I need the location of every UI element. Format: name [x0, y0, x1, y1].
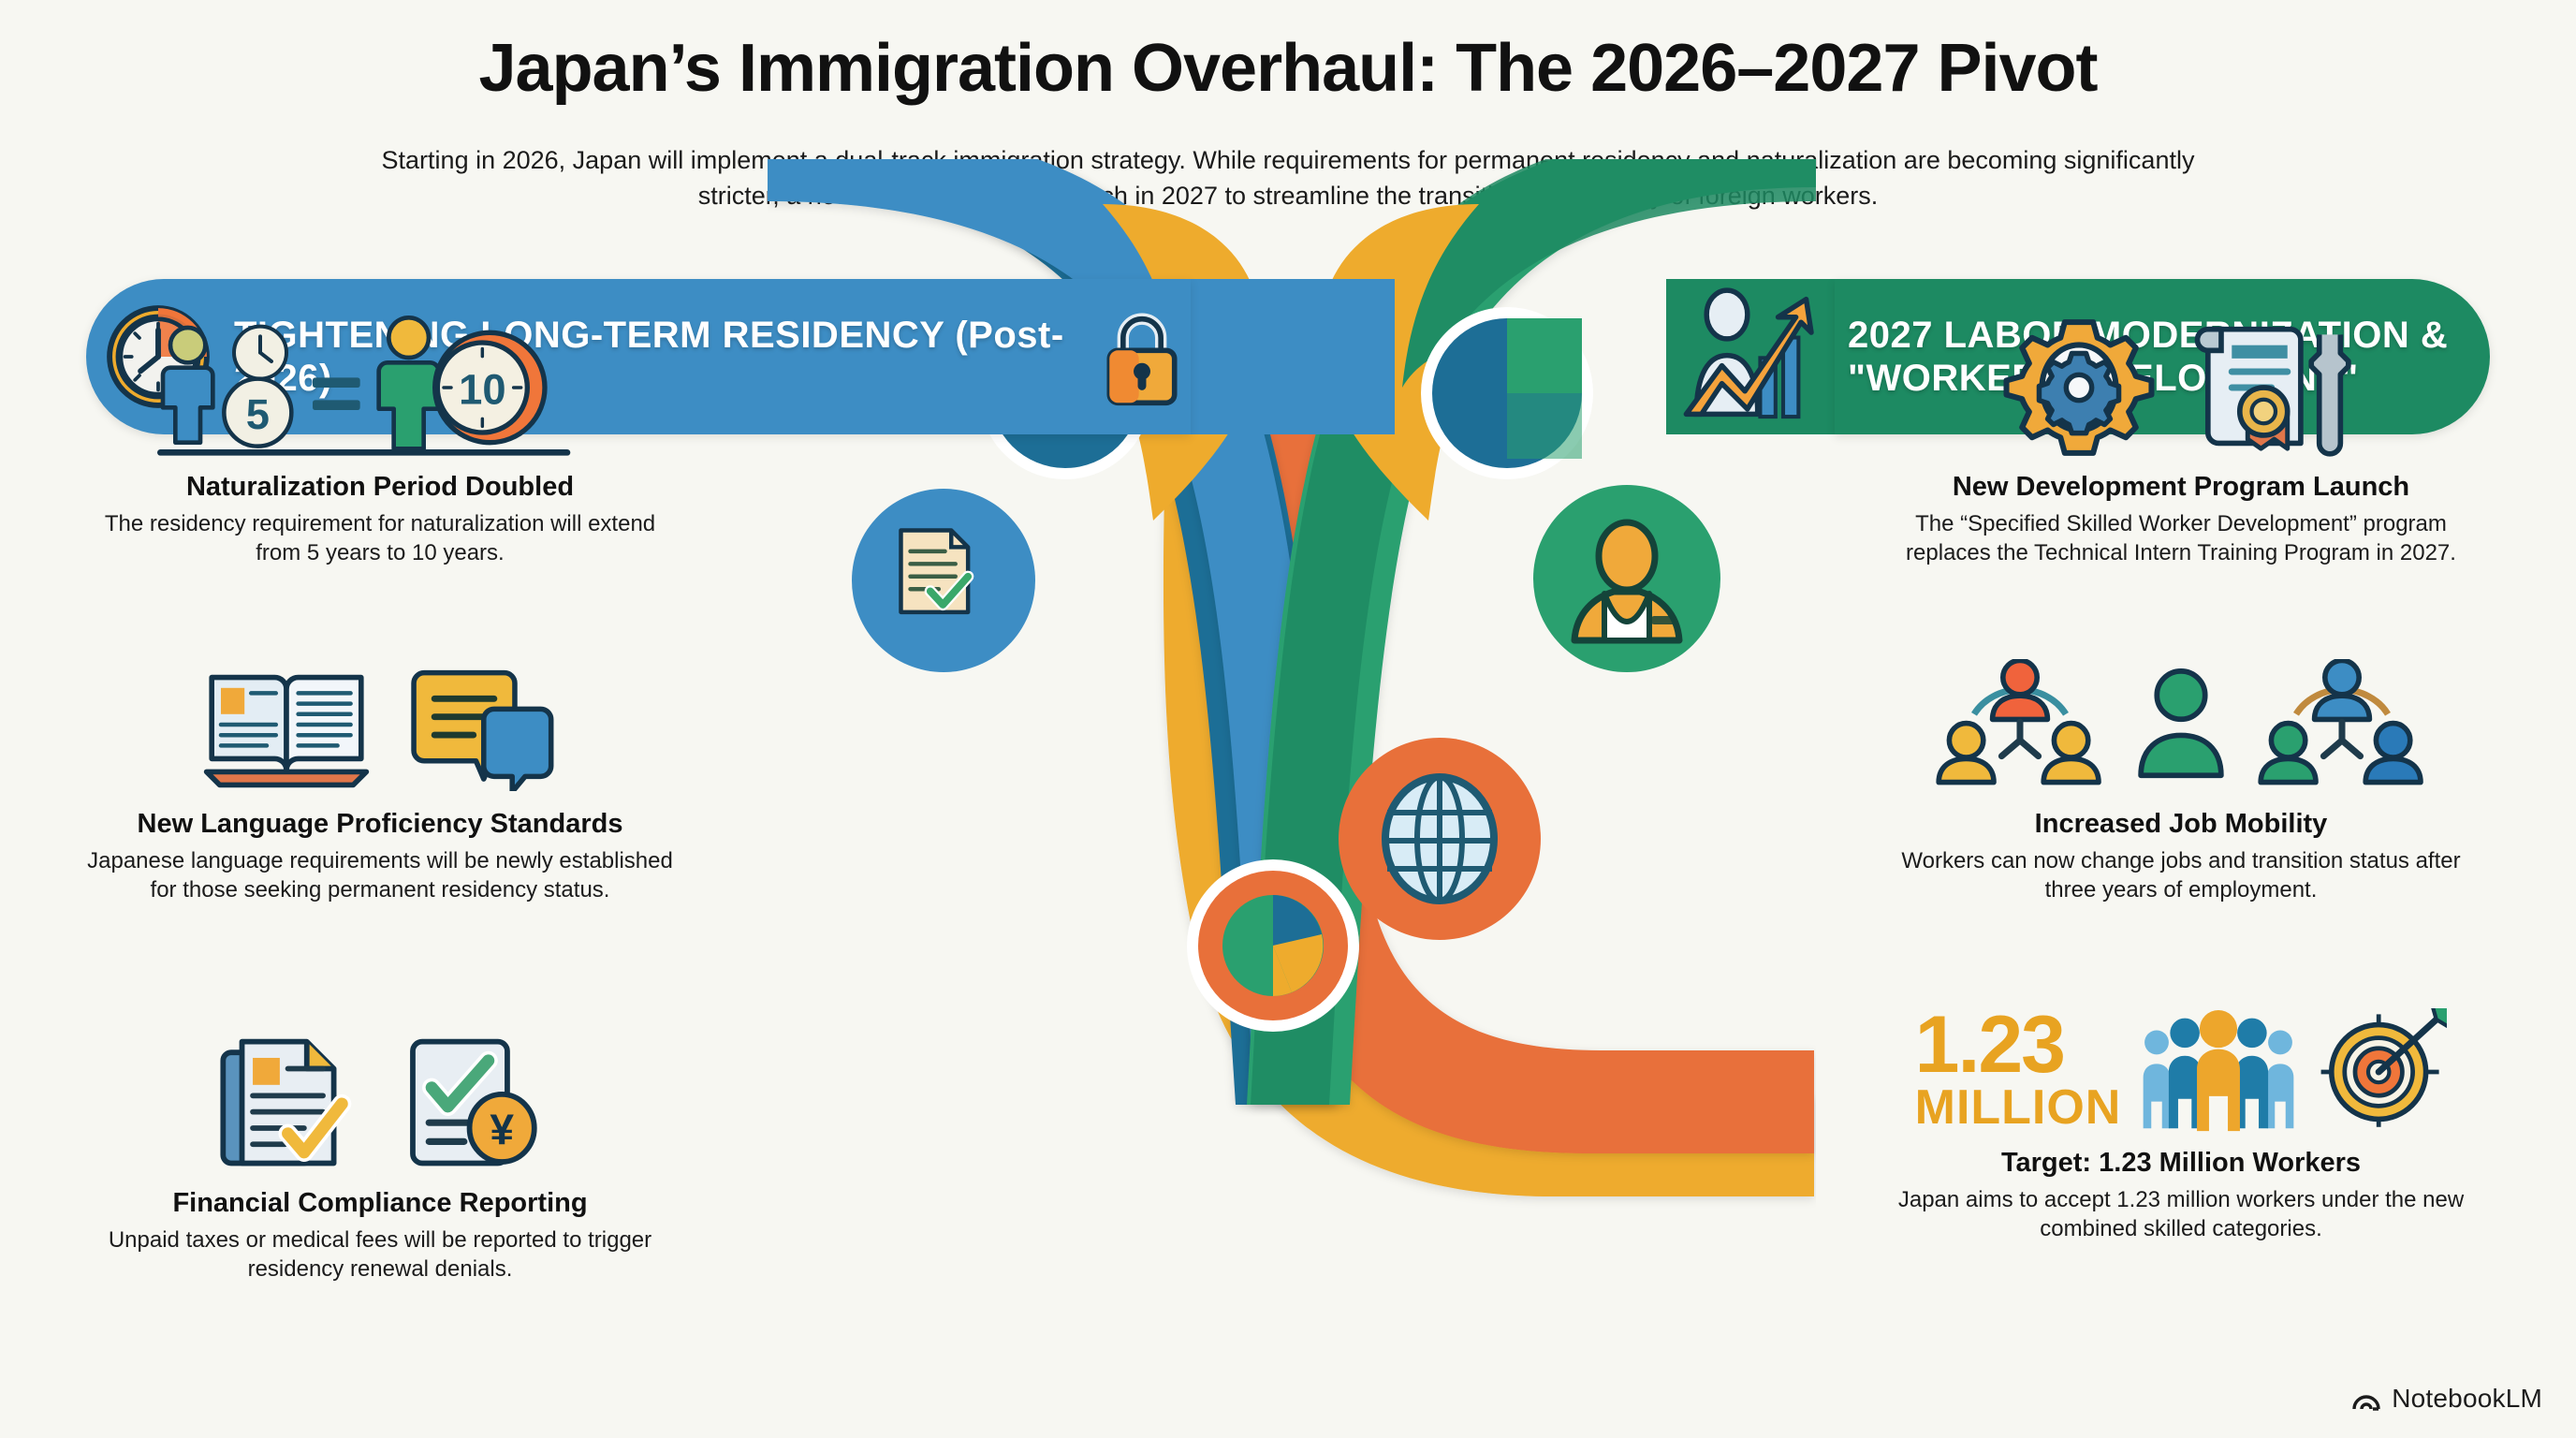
development-icons	[1881, 309, 2481, 466]
watermark-label: NotebookLM	[2392, 1384, 2542, 1414]
team-network-orange-icon	[1933, 659, 2107, 790]
left-item-language: New Language Proficiency Standards Japan…	[80, 646, 680, 904]
right-item-3-desc: Japan aims to accept 1.23 million worker…	[1881, 1185, 2481, 1243]
node-pie-small	[1187, 859, 1359, 1032]
left-item-naturalization: 5	[80, 309, 680, 567]
infographic-canvas: Japan’s Immigration Overhaul: The 2026–2…	[0, 0, 2576, 1438]
person-blue-icon	[163, 328, 212, 443]
right-item-target: 1.23 MILLION	[1881, 1002, 2481, 1243]
person-green-icon	[379, 317, 439, 448]
document-yen-icon: ¥	[396, 1034, 546, 1174]
right-item-development: New Development Program Launch The “Spec…	[1881, 309, 2481, 567]
left-item-financial: ¥ Financial Compliance Reporting Unpaid …	[80, 1025, 680, 1284]
right-item-mobility: Increased Job Mobility Workers can now c…	[1881, 646, 2481, 904]
left-item-2-title: New Language Proficiency Standards	[80, 809, 680, 840]
gear-icon	[2000, 314, 2158, 462]
left-item-3-desc: Unpaid taxes or medical fees will be rep…	[80, 1225, 680, 1284]
right-item-2-desc: Workers can now change jobs and transiti…	[1881, 846, 2481, 904]
right-item-2-title: Increased Job Mobility	[1881, 809, 2481, 840]
right-item-3-title: Target: 1.23 Million Workers	[1881, 1148, 2481, 1179]
mobility-icons	[1881, 646, 2481, 803]
clock-small-icon	[234, 327, 286, 379]
right-item-1-title: New Development Program Launch	[1881, 472, 2481, 503]
node-worker	[1533, 485, 1720, 672]
certificate-wrench-icon	[2189, 314, 2362, 462]
clock-10-icon: 10	[435, 332, 545, 442]
left-item-1-desc: The residency requirement for naturaliza…	[80, 509, 680, 567]
watermark: NotebookLM	[2350, 1384, 2542, 1414]
right-item-1-desc: The “Specified Skilled Worker Developmen…	[1881, 509, 2481, 567]
equals-icon	[313, 377, 360, 410]
svg-text:¥: ¥	[490, 1105, 514, 1153]
stat-unit: MILLION	[1915, 1079, 2122, 1136]
open-book-icon	[201, 658, 372, 791]
person-green-icon	[2131, 668, 2231, 781]
page-title: Japan’s Immigration Overhaul: The 2026–2…	[0, 30, 2576, 107]
left-item-2-desc: Japanese language requirements will be n…	[80, 846, 680, 904]
clock-5-icon: 5	[224, 379, 291, 447]
people-group-icon	[2136, 1010, 2301, 1134]
node-document	[852, 489, 1035, 672]
target-stat-row: 1.23 MILLION	[1881, 1002, 2481, 1142]
node-globe	[1339, 738, 1541, 940]
financial-icons: ¥	[80, 1025, 680, 1182]
left-item-3-title: Financial Compliance Reporting	[80, 1188, 680, 1219]
svg-text:10: 10	[459, 365, 505, 413]
document-check-icon	[214, 1034, 364, 1174]
speech-bubbles-icon	[403, 658, 559, 791]
naturalization-icons: 5	[80, 309, 680, 466]
language-icons	[80, 646, 680, 803]
lock-icon	[1093, 304, 1191, 409]
node-pie-green	[1421, 307, 1593, 479]
growth-arrow-icon	[1676, 286, 1835, 427]
target-arrow-icon	[2316, 1008, 2447, 1136]
team-network-blue-icon	[2255, 659, 2429, 790]
notebooklm-logo-icon	[2350, 1385, 2382, 1413]
svg-text:5: 5	[246, 390, 270, 438]
left-item-1-title: Naturalization Period Doubled	[80, 472, 680, 503]
stat-number: 1.23	[1915, 1008, 2122, 1082]
